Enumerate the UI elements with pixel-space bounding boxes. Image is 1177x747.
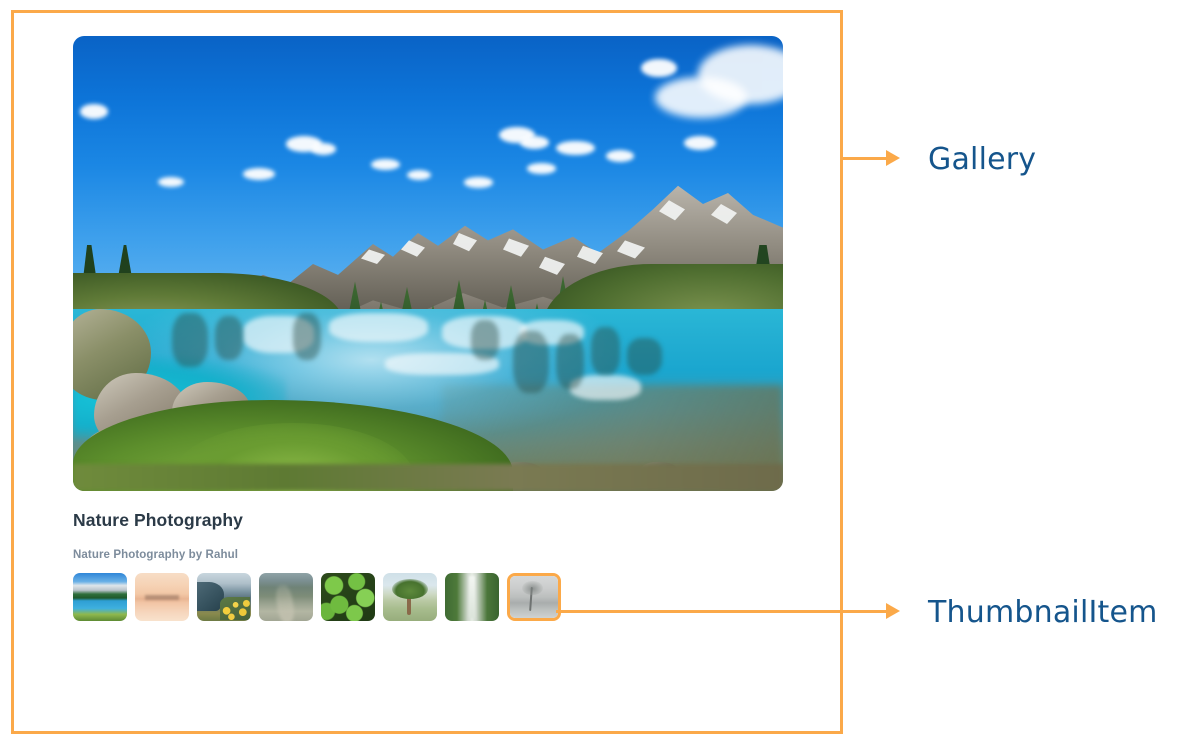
thumbnail-callout-line xyxy=(556,610,890,613)
gallery-callout-arrow-icon xyxy=(886,150,900,166)
gallery-callout-line xyxy=(843,157,888,160)
gallery-annotation-frame xyxy=(11,10,843,734)
thumbnail-callout-label: ThumbnailItem xyxy=(928,595,1158,630)
thumbnail-callout-arrow-icon xyxy=(886,603,900,619)
gallery-callout-label: Gallery xyxy=(928,142,1036,177)
